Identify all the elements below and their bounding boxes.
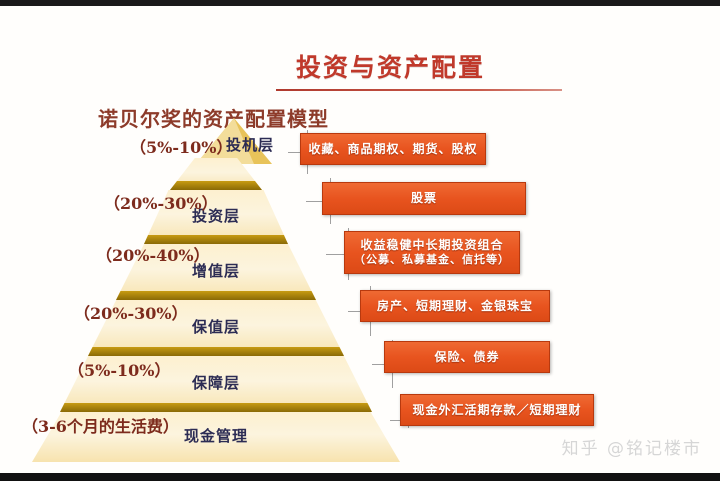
title-underline-rule	[276, 89, 562, 91]
letterbox-bottom-bar	[0, 473, 720, 481]
pyramid-level-speculation-label-slot	[172, 158, 262, 190]
asset-box-line1: 现金外汇活期存款／短期理财	[412, 403, 581, 418]
asset-box-line1: 股票	[411, 191, 437, 206]
asset-box-preservation[interactable]: 房产、短期理财、金银珠宝	[360, 290, 550, 322]
asset-box-line1: 收益稳健中长期投资组合	[360, 238, 503, 253]
asset-box-cash[interactable]: 现金外汇活期存款／短期理财	[400, 394, 594, 426]
asset-box-speculation[interactable]: 收藏、商品期权、期货、股权	[300, 133, 486, 165]
asset-box-line1: 收藏、商品期权、期货、股权	[308, 142, 477, 157]
asset-box-protection[interactable]: 保险、债券	[384, 341, 550, 373]
watermark: 知乎 @铭记楼市	[562, 434, 702, 459]
asset-allocation-pyramid: 投资层 增值层 保值层 保障层 现金管理	[0, 118, 430, 438]
asset-box-line1: 保险、债券	[434, 350, 499, 365]
page-title: 投资与资产配置	[296, 48, 485, 84]
allocation-label-cash: （3-6个月的生活费）	[22, 413, 179, 437]
asset-box-appreciation[interactable]: 收益稳健中长期投资组合 （公募、私募基金、信托等）	[344, 231, 520, 274]
letterbox-top-bar	[0, 0, 720, 6]
allocation-label-appreciation: （20%-40%）	[96, 242, 210, 266]
asset-box-line1: 房产、短期理财、金银珠宝	[377, 299, 533, 314]
allocation-label-investment: （20%-30%）	[104, 190, 218, 214]
asset-box-investment[interactable]: 股票	[322, 182, 526, 215]
allocation-label-preservation: （20%-30%）	[74, 300, 188, 324]
pyramid-level-speculation-name: 投机层	[226, 134, 274, 155]
slide-canvas: 投资与资产配置 诺贝尔奖的资产配置模型 投资层 增值层 保值层	[0, 0, 720, 481]
asset-box-line2: （公募、私募基金、信托等）	[354, 253, 510, 267]
allocation-label-speculation: （5%-10%）	[130, 134, 232, 158]
allocation-label-protection: （5%-10%）	[68, 357, 170, 381]
